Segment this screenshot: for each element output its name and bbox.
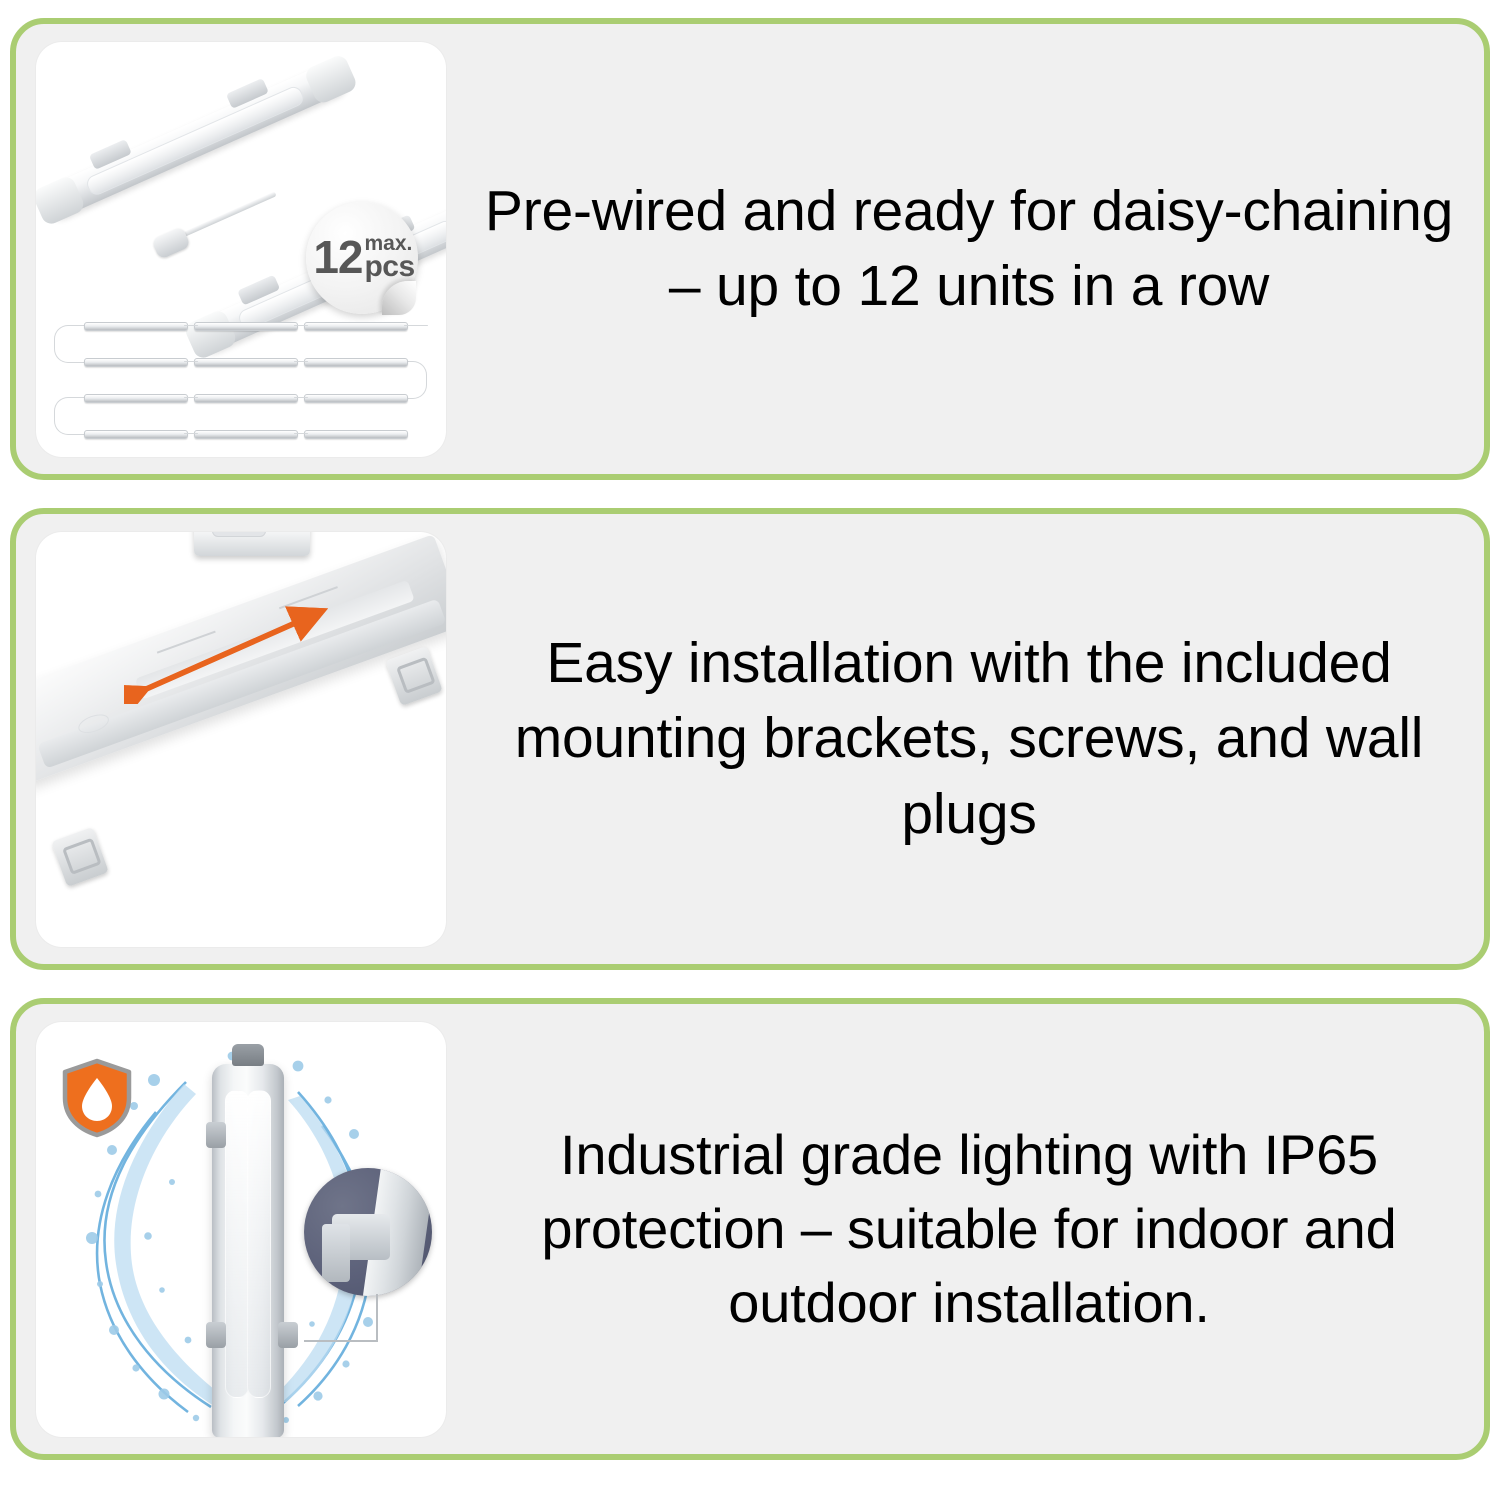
chain-unit [304, 322, 408, 331]
callout-clip-arm [322, 1224, 350, 1282]
feature-cards-page: 12 max. pcs [0, 0, 1500, 1500]
fixture-endcap-gland [232, 1044, 264, 1066]
diffuser-tube [84, 84, 306, 197]
callout-leader-line-vertical [376, 1294, 378, 1342]
badge-content: 12 max. pcs [309, 234, 414, 281]
waterproof-shield-icon [60, 1058, 134, 1138]
feature-card-easy-installation: Easy installation with the included moun… [10, 508, 1490, 970]
chain-unit [194, 430, 298, 439]
led-tube-left [225, 1090, 249, 1398]
feature-text-easy-installation: Easy installation with the included moun… [446, 626, 1484, 852]
waterproof-product-illustration [36, 1022, 446, 1437]
mounting-clip-top-right [385, 645, 443, 705]
chain-link [294, 361, 308, 362]
tube-clamp-right [278, 1322, 298, 1348]
chain-unit [84, 394, 188, 403]
chain-link [184, 433, 198, 434]
sliding-mounting-bracket [194, 532, 310, 556]
chain-unit [194, 358, 298, 367]
feature-text-ip65-protection: Industrial grade lighting with IP65 prot… [446, 1118, 1484, 1340]
tube-clamp-lower [206, 1322, 226, 1348]
badge-label-stack: max. pcs [364, 234, 414, 281]
endcap-right-icon [303, 52, 359, 105]
chain-link [294, 325, 308, 326]
feature-text-daisy-chaining: Pre-wired and ready for daisy-chaining –… [446, 174, 1484, 324]
chain-unit [194, 322, 298, 331]
chain-unit [84, 358, 188, 367]
tube-clamp-upper [206, 1122, 226, 1148]
chain-link [184, 361, 198, 362]
chain-link [294, 433, 308, 434]
chain-wire-left-loop [54, 325, 89, 363]
feature-image-easy-installation [36, 532, 446, 947]
chain-link [184, 397, 198, 398]
chain-link [294, 397, 308, 398]
callout-leader-line-horizontal [304, 1340, 378, 1342]
chain-wire-left-loop-2 [54, 397, 89, 435]
feature-card-daisy-chaining: 12 max. pcs [10, 18, 1490, 480]
led-batten-fixture-upper [37, 57, 352, 222]
mounting-clip-bottom-left [51, 826, 109, 886]
feature-card-ip65-protection: Industrial grade lighting with IP65 prot… [10, 998, 1490, 1460]
clip-detail-callout [304, 1168, 432, 1296]
chain-unit [194, 394, 298, 403]
feature-image-daisy-chaining: 12 max. pcs [36, 42, 446, 457]
chain-unit [84, 430, 188, 439]
chain-link [184, 325, 198, 326]
chain-unit [304, 358, 408, 367]
badge-unit-label: pcs [364, 253, 414, 281]
chain-unit [84, 322, 188, 331]
endcap-left-icon [36, 174, 86, 227]
ip65-tube-fixture [212, 1064, 284, 1437]
chain-unit [304, 430, 408, 439]
led-tube-right [247, 1090, 271, 1398]
bracket-slot [212, 532, 266, 537]
daisy-chain-product-illustration: 12 max. pcs [36, 42, 446, 457]
daisy-chain-diagram [54, 321, 428, 439]
installation-product-illustration [36, 532, 446, 947]
adjustable-span-arrow-icon [124, 604, 340, 704]
feature-image-ip65-protection [36, 1022, 446, 1437]
chain-unit [304, 394, 408, 403]
chain-link [404, 325, 428, 326]
badge-number: 12 [313, 237, 362, 278]
max-units-badge: 12 max. pcs [306, 202, 418, 314]
